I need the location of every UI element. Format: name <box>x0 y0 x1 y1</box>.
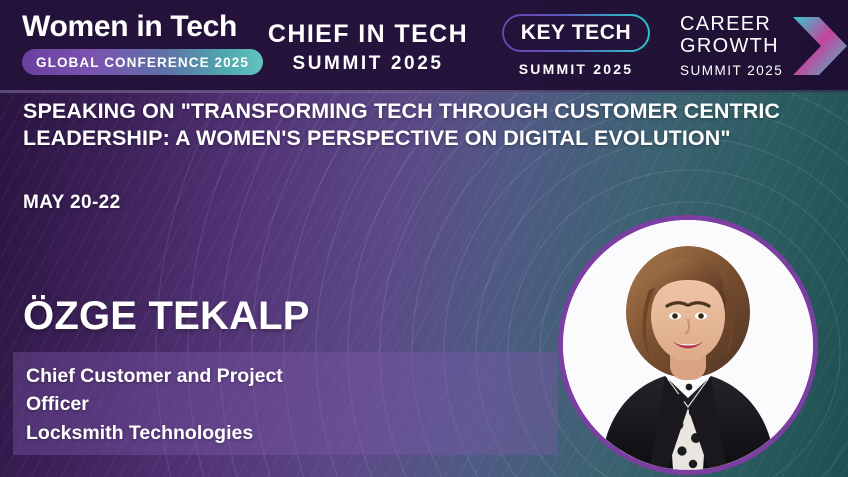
logo-women-in-tech[interactable]: Women in Tech GLOBAL CONFERENCE 2025 <box>22 12 263 75</box>
speaker-info-text: Chief Customer and Project Officer Locks… <box>26 362 446 447</box>
logo-career-growth-line3: SUMMIT 2025 <box>680 63 783 78</box>
event-dates: MAY 20-22 <box>23 192 121 214</box>
logo-key-tech-title: KEY TECH <box>521 21 632 45</box>
page-title: SPEAKING ON "TRANSFORMING TECH THROUGH C… <box>23 98 829 152</box>
logo-women-in-tech-title: Women in Tech <box>22 12 263 42</box>
chevron-right-icon <box>791 15 848 77</box>
logo-career-growth-line2: GROWTH <box>680 36 783 58</box>
logo-key-tech-subtitle: SUMMIT 2025 <box>502 61 650 77</box>
speaker-company: Locksmith Technologies <box>26 419 446 447</box>
logo-career-growth[interactable]: CAREER GROWTH SUMMIT 2025 <box>680 14 848 78</box>
logo-chief-in-tech-line2: SUMMIT 2025 <box>266 53 470 76</box>
logo-key-tech-pill: KEY TECH <box>502 14 650 52</box>
avatar <box>558 215 818 475</box>
logo-chief-in-tech-line1: CHIEF IN TECH <box>266 20 470 48</box>
header-divider <box>0 90 848 93</box>
logo-women-in-tech-pill: GLOBAL CONFERENCE 2025 <box>22 49 263 75</box>
logo-women-in-tech-subtitle: GLOBAL CONFERENCE 2025 <box>36 55 249 70</box>
promo-banner: Women in Tech GLOBAL CONFERENCE 2025 CHI… <box>0 0 848 477</box>
logo-key-tech[interactable]: KEY TECH SUMMIT 2025 <box>502 14 650 77</box>
logo-chief-in-tech[interactable]: CHIEF IN TECH SUMMIT 2025 <box>266 20 470 76</box>
logo-career-growth-line1: CAREER <box>680 14 783 36</box>
speaker-role-line2: Officer <box>26 390 446 418</box>
avatar-photo <box>563 220 813 470</box>
speaker-name: ÖZGE TEKALP <box>23 296 310 336</box>
speaker-role-line1: Chief Customer and Project <box>26 362 446 390</box>
